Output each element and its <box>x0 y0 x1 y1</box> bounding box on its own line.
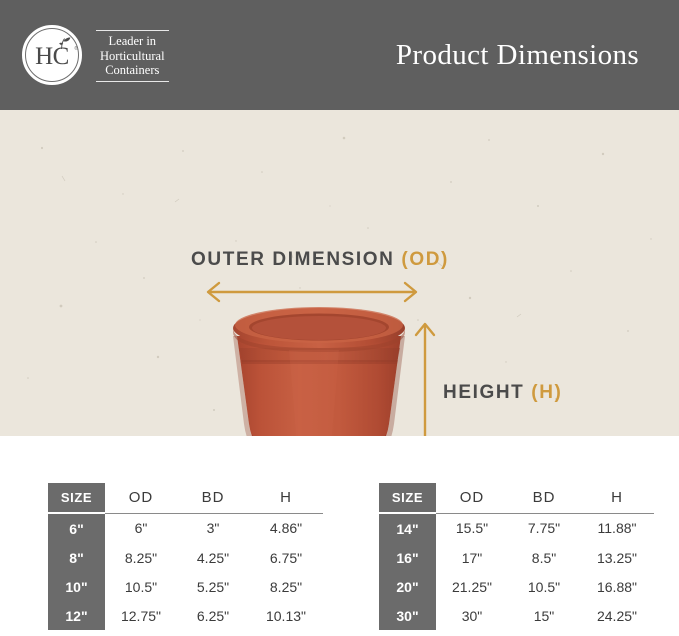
table-header-row: SIZE OD BD H <box>379 483 654 513</box>
column-header-size: SIZE <box>379 483 436 513</box>
column-header-h: H <box>580 483 654 513</box>
size-chart-table-large: SIZE OD BD H 14" 15.5" 7.75" 11.88" 16" … <box>379 483 654 630</box>
cell-bd: 5.25" <box>177 572 249 601</box>
logo-monogram: HC <box>22 25 82 85</box>
cell-od: 15.5" <box>436 513 508 543</box>
cell-bd: 15" <box>508 601 580 630</box>
registered-trademark-icon: ® <box>74 46 78 52</box>
logo-circle-icon: HC ® <box>22 25 84 87</box>
cell-od: 6" <box>105 513 177 543</box>
cell-od: 10.5" <box>105 572 177 601</box>
column-header-od: OD <box>436 483 508 513</box>
table-body: 6" 6" 3" 4.86" 8" 8.25" 4.25" 6.75" 10" … <box>48 513 323 630</box>
size-chart-table-small: SIZE OD BD H 6" 6" 3" 4.86" 8" 8.25" 4.2… <box>48 483 323 630</box>
cell-od: 17" <box>436 543 508 572</box>
cell-bd: 8.5" <box>508 543 580 572</box>
table-body: 14" 15.5" 7.75" 11.88" 16" 17" 8.5" 13.2… <box>379 513 654 630</box>
height-abbr: (H) <box>531 382 562 403</box>
tagline-line-3: Containers <box>100 63 165 78</box>
table-row: 8" 8.25" 4.25" 6.75" <box>48 543 323 572</box>
header-bar: HC ® Leader in Horticultural Containers … <box>0 0 679 110</box>
table-header: SIZE OD BD H <box>48 483 323 513</box>
table-row: 12" 12.75" 6.25" 10.13" <box>48 601 323 630</box>
dimensions-table: SIZE OD BD H 14" 15.5" 7.75" 11.88" 16" … <box>379 483 654 630</box>
table-row: 16" 17" 8.5" 13.25" <box>379 543 654 572</box>
brand-logo: HC ® Leader in Horticultural Containers <box>22 23 192 89</box>
cell-h: 8.25" <box>249 572 323 601</box>
cell-bd: 10.5" <box>508 572 580 601</box>
column-header-bd: BD <box>508 483 580 513</box>
cell-od: 21.25" <box>436 572 508 601</box>
column-header-h: H <box>249 483 323 513</box>
height-text: HEIGHT <box>443 382 531 403</box>
outer-dimension-text: OUTER DIMENSION <box>191 249 401 270</box>
table-row: 14" 15.5" 7.75" 11.88" <box>379 513 654 543</box>
cell-bd: 7.75" <box>508 513 580 543</box>
cell-bd: 3" <box>177 513 249 543</box>
cell-size: 30" <box>379 601 436 630</box>
cell-size: 10" <box>48 572 105 601</box>
outer-dimension-arrow-icon <box>200 280 424 304</box>
cell-size: 8" <box>48 543 105 572</box>
table-row: 6" 6" 3" 4.86" <box>48 513 323 543</box>
cell-od: 30" <box>436 601 508 630</box>
dimensions-table: SIZE OD BD H 6" 6" 3" 4.86" 8" 8.25" 4.2… <box>48 483 323 630</box>
table-header: SIZE OD BD H <box>379 483 654 513</box>
page-title: Product Dimensions <box>340 0 679 110</box>
height-arrow-icon <box>412 318 438 436</box>
cell-size: 6" <box>48 513 105 543</box>
outer-dimension-abbr: (OD) <box>401 249 449 270</box>
cell-h: 6.75" <box>249 543 323 572</box>
cell-size: 12" <box>48 601 105 630</box>
logo-tagline: Leader in Horticultural Containers <box>96 30 169 82</box>
cell-od: 8.25" <box>105 543 177 572</box>
cell-h: 24.25" <box>580 601 654 630</box>
cell-od: 12.75" <box>105 601 177 630</box>
column-header-size: SIZE <box>48 483 105 513</box>
cell-size: 16" <box>379 543 436 572</box>
cell-h: 11.88" <box>580 513 654 543</box>
cell-h: 4.86" <box>249 513 323 543</box>
cell-h: 13.25" <box>580 543 654 572</box>
column-header-bd: BD <box>177 483 249 513</box>
table-row: 10" 10.5" 5.25" 8.25" <box>48 572 323 601</box>
cell-size: 14" <box>379 513 436 543</box>
outer-dimension-label: OUTER DIMENSION (OD) <box>0 249 640 271</box>
tagline-line-2: Horticultural <box>100 49 165 64</box>
cell-bd: 4.25" <box>177 543 249 572</box>
diagram-panel: OUTER DIMENSION (OD) <box>0 110 679 436</box>
product-dimensions-infographic: HC ® Leader in Horticultural Containers … <box>0 0 679 636</box>
flower-pot-illustration <box>219 306 419 436</box>
table-header-row: SIZE OD BD H <box>48 483 323 513</box>
table-row: 30" 30" 15" 24.25" <box>379 601 654 630</box>
height-label: HEIGHT (H) <box>443 382 562 404</box>
cell-h: 16.88" <box>580 572 654 601</box>
tagline-line-1: Leader in <box>100 34 165 49</box>
column-header-od: OD <box>105 483 177 513</box>
cell-bd: 6.25" <box>177 601 249 630</box>
table-row: 20" 21.25" 10.5" 16.88" <box>379 572 654 601</box>
cell-h: 10.13" <box>249 601 323 630</box>
cell-size: 20" <box>379 572 436 601</box>
